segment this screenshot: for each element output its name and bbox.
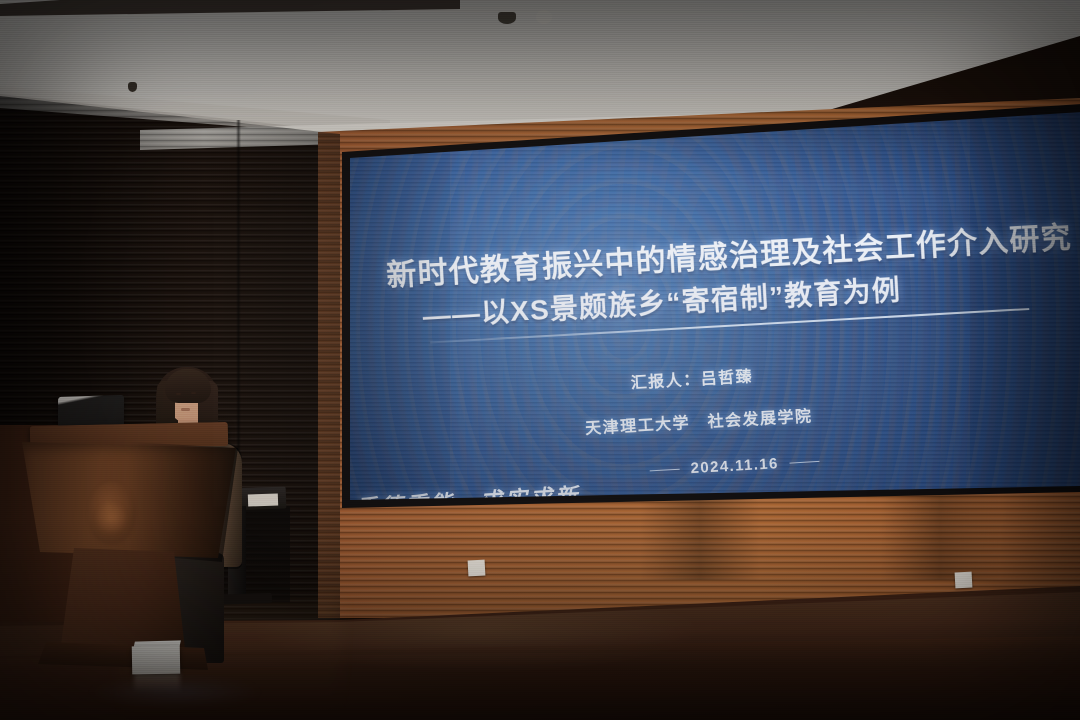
presentation-photo-scene: 天津理 新时代教育振兴中的情感治理及社会工作介入研究 ——以XS景颇族乡“寄宿制… <box>0 0 1080 720</box>
white-box-on-floor <box>132 646 180 675</box>
equipment-label <box>248 493 278 506</box>
ceiling-light-fixture-icon <box>498 12 516 24</box>
presenter-mouth <box>181 408 190 411</box>
wall-outlet-plate <box>955 572 973 589</box>
podium-emblem-inner <box>96 500 126 536</box>
white-box-reflection <box>134 673 180 693</box>
ceiling-light-fixture-icon <box>128 82 137 92</box>
presenter-hair-front <box>165 369 211 403</box>
wall-outlet-plate <box>468 560 486 577</box>
smoke-detector-icon <box>536 10 552 24</box>
podium-shadow-side <box>128 440 238 562</box>
screen-vignette <box>330 104 1080 508</box>
led-screen: 天津理 新时代教育振兴中的情感治理及社会工作介入研究 ——以XS景颇族乡“寄宿制… <box>330 104 1080 508</box>
